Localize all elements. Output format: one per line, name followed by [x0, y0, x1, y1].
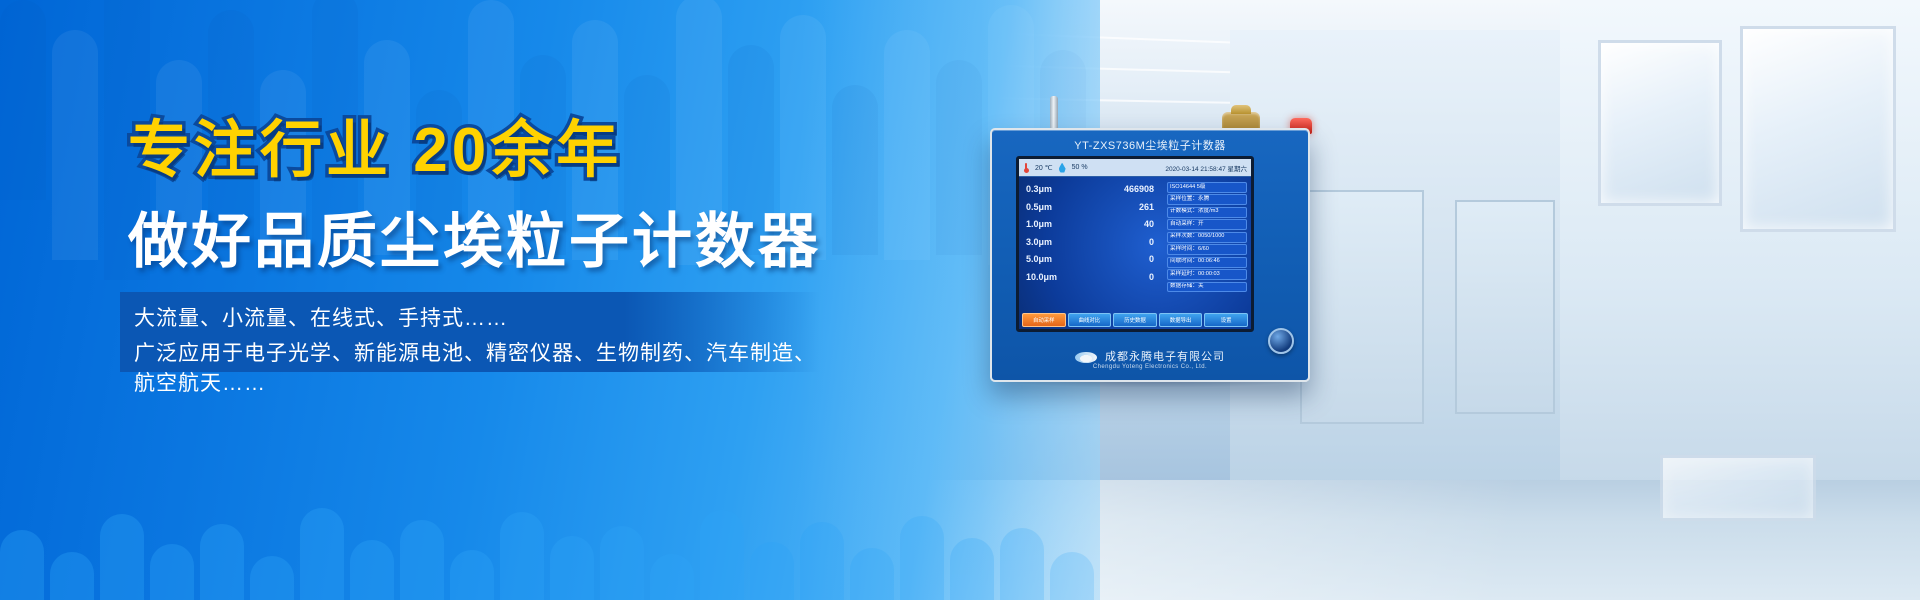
list-item: 采样位置：永腾 — [1167, 194, 1247, 205]
list-item: 采样延时：00:00:03 — [1167, 269, 1247, 280]
particle-size: 10.0μm — [1026, 273, 1057, 282]
particle-count: 466908 — [1124, 185, 1154, 194]
brand-name-en: Chengdu Yoteng Electronics Co., Ltd. — [992, 364, 1308, 370]
parameter-list: ISO14644 5级 采样位置：永腾 计数模式：浓度/m3 自动采样：开 采样… — [1167, 182, 1247, 294]
table-row: 0.3μm 466908 — [1026, 185, 1154, 194]
button-data-export[interactable]: 数据导出 — [1159, 313, 1203, 327]
brand-name-cn: 成都永腾电子有限公司 — [992, 348, 1308, 364]
corridor-window — [1598, 40, 1722, 206]
list-item: ISO14644 5级 — [1167, 182, 1247, 193]
humidity-value: 50 % — [1072, 164, 1088, 171]
particle-counter-device: YT-ZXS736M尘埃粒子计数器 20 ℃ 50 % 2020-03-14 2… — [990, 128, 1310, 382]
button-settings[interactable]: 设置 — [1204, 313, 1248, 327]
ribbon-line-2: 广泛应用于电子光学、新能源电池、精密仪器、生物制药、汽车制造、航空航天…… — [134, 337, 820, 397]
button-curve-compare[interactable]: 曲线对比 — [1068, 313, 1112, 327]
table-row: 10.0μm 0 — [1026, 273, 1154, 282]
device-model-label: YT-ZXS736M尘埃粒子计数器 — [992, 137, 1308, 153]
particle-size: 5.0μm — [1026, 255, 1052, 264]
list-item: 数据存储：关 — [1167, 282, 1247, 293]
table-row: 1.0μm 40 — [1026, 220, 1154, 229]
datetime-value: 2020-03-14 21:58:47 星期六 — [1165, 163, 1247, 173]
list-item: 采样时间：6/60 — [1167, 244, 1247, 255]
particle-size: 0.5μm — [1026, 203, 1052, 212]
particle-count: 261 — [1139, 203, 1154, 212]
corridor-window — [1740, 26, 1896, 232]
particle-size: 0.3μm — [1026, 185, 1052, 194]
list-item: 自动采样：开 — [1167, 219, 1247, 230]
ribbon-line-1: 大流量、小流量、在线式、手持式…… — [134, 302, 508, 332]
thermometer-icon — [1023, 163, 1029, 173]
device-lcd-screen[interactable]: 20 ℃ 50 % 2020-03-14 21:58:47 星期六 0.3μm … — [1016, 156, 1254, 332]
table-row: 0.5μm 261 — [1026, 203, 1154, 212]
particle-table: 0.3μm 466908 0.5μm 261 1.0μm 40 3.0μm 0 — [1026, 185, 1154, 290]
particle-count: 0 — [1149, 238, 1154, 247]
button-history-data[interactable]: 历史数据 — [1113, 313, 1157, 327]
device-brand: 成都永腾电子有限公司 Chengdu Yoteng Electronics Co… — [992, 348, 1308, 370]
corridor-door — [1300, 190, 1424, 424]
particle-count: 0 — [1149, 273, 1154, 282]
brand-name-cn-text: 成都永腾电子有限公司 — [1105, 351, 1225, 363]
table-row: 3.0μm 0 — [1026, 238, 1154, 247]
lcd-status-bar: 20 ℃ 50 % 2020-03-14 21:58:47 星期六 — [1019, 159, 1251, 177]
corridor-door — [1455, 200, 1555, 414]
particle-size: 3.0μm — [1026, 238, 1052, 247]
floor-vent — [1660, 455, 1816, 521]
temperature-value: 20 ℃ — [1035, 164, 1053, 172]
power-knob[interactable] — [1268, 328, 1294, 354]
lcd-button-bar: 自动采样 曲线对比 历史数据 数据导出 设置 — [1022, 313, 1248, 327]
lcd-content: 0.3μm 466908 0.5μm 261 1.0μm 40 3.0μm 0 — [1019, 177, 1251, 330]
water-drop-icon — [1059, 163, 1066, 173]
particle-count: 40 — [1144, 220, 1154, 229]
list-item: 采样次数：0050/1000 — [1167, 232, 1247, 243]
feature-ribbon: 大流量、小流量、在线式、手持式…… 广泛应用于电子光学、新能源电池、精密仪器、生… — [120, 292, 820, 372]
list-item: 计数模式：浓度/m3 — [1167, 207, 1247, 218]
yoteng-logo-icon — [1075, 352, 1097, 363]
page-subtitle: 做好品质尘埃粒子计数器 — [128, 212, 821, 272]
list-item: 间歇时间：00:06:46 — [1167, 257, 1247, 268]
button-auto-sample[interactable]: 自动采样 — [1022, 313, 1066, 327]
hero-banner: 专注行业 20余年 做好品质尘埃粒子计数器 大流量、小流量、在线式、手持式…… … — [0, 0, 1920, 600]
particle-count: 0 — [1149, 255, 1154, 264]
page-title: 专注行业 20余年 — [128, 120, 622, 182]
particle-size: 1.0μm — [1026, 220, 1052, 229]
table-row: 5.0μm 0 — [1026, 255, 1154, 264]
sensor-probe-icon — [1050, 96, 1058, 132]
